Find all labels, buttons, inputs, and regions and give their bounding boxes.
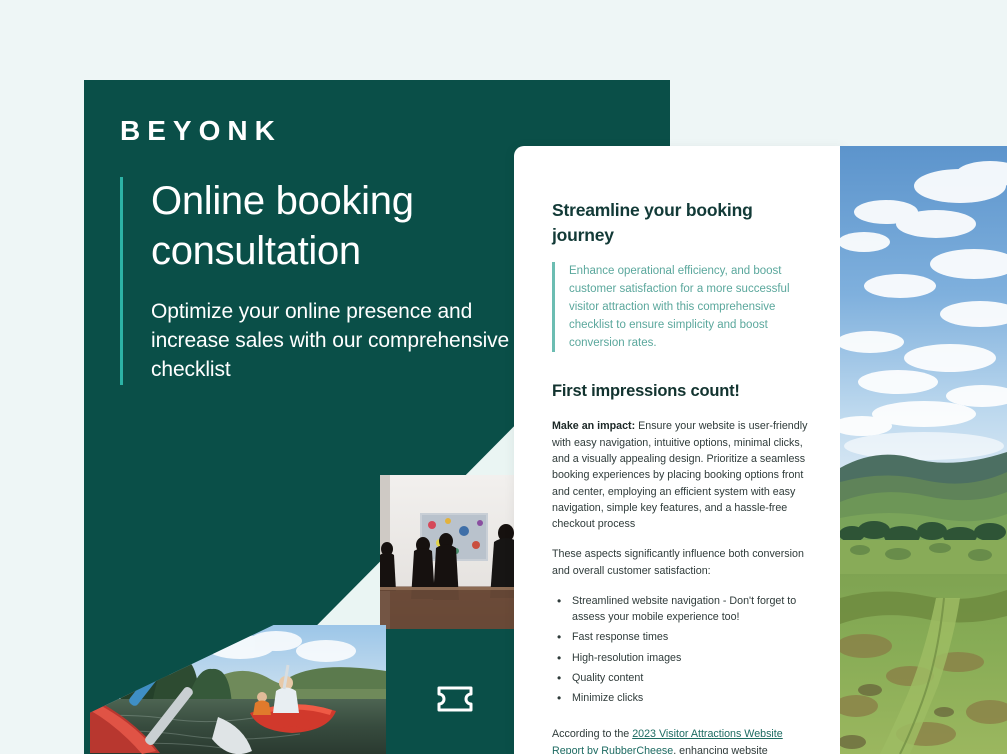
list-item: Streamlined website navigation - Don't f… [569, 593, 808, 626]
impact-body-text: Ensure your website is user-friendly wit… [552, 420, 807, 530]
checklist-bullets: Streamlined website navigation - Don't f… [552, 593, 808, 707]
impact-lead-label: Make an impact: [552, 420, 635, 432]
source-footnote: According to the 2023 Visitor Attraction… [552, 726, 808, 754]
headline-block: Online booking consultation Optimize you… [120, 177, 540, 385]
list-item: Quality content [569, 670, 808, 686]
page-title: Online booking consultation [151, 177, 540, 276]
ticket-icon [436, 684, 474, 714]
list-item: Fast response times [569, 629, 808, 645]
page-root: BEYONK Online booking consultation Optim… [0, 0, 1007, 754]
canoe-photo [90, 625, 386, 754]
card-title: Streamline your booking journey [552, 198, 808, 248]
page-subtitle: Optimize your online presence and increa… [151, 298, 540, 385]
impact-paragraph: Make an impact: Ensure your website is u… [552, 418, 808, 532]
section-heading: First impressions count! [552, 382, 808, 401]
brand-logo: BEYONK [120, 117, 282, 145]
rolling-hills-photo [840, 146, 1007, 754]
footnote-prefix: According to the [552, 728, 632, 740]
list-item: High-resolution images [569, 650, 808, 666]
list-item: Minimize clicks [569, 690, 808, 706]
quote-callout: Enhance operational efficiency, and boos… [552, 262, 808, 353]
aspects-paragraph: These aspects significantly influence bo… [552, 546, 808, 579]
content-card: Streamline your booking journey Enhance … [514, 146, 846, 754]
